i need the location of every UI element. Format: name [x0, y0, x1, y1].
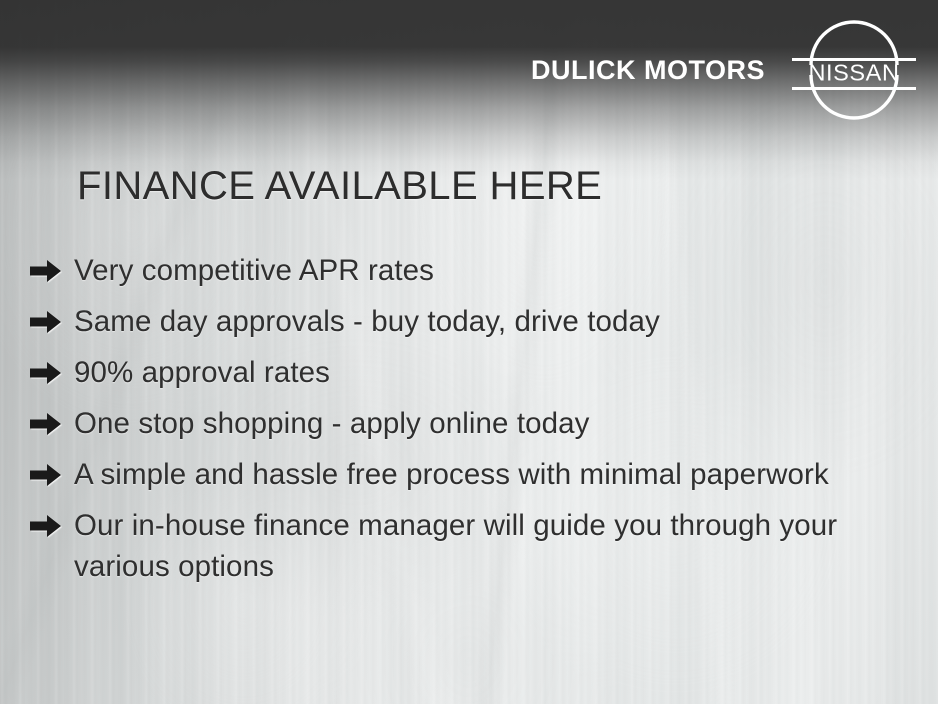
list-item-label: 90% approval rates	[74, 353, 330, 394]
page-title: FINANCE AVAILABLE HERE	[77, 163, 602, 209]
finance-slide: DULICK MOTORS NISSAN FINANCE AVAILABLE H…	[0, 0, 938, 704]
arrow-right-icon	[30, 514, 61, 538]
list-item: A simple and hassle free process with mi…	[30, 455, 912, 499]
dealer-brand-name: DULICK MOTORS	[531, 57, 765, 84]
list-item-label: Very competitive APR rates	[74, 251, 434, 292]
list-item-label: Our in-house finance manager will guide …	[74, 506, 912, 587]
list-item-label: Same day approvals - buy today, drive to…	[74, 302, 660, 343]
list-item: Very competitive APR rates	[30, 251, 912, 295]
list-item: 90% approval rates	[30, 353, 912, 397]
list-item: One stop shopping - apply online today	[30, 404, 912, 448]
arrow-right-icon	[30, 463, 61, 487]
list-item-label: A simple and hassle free process with mi…	[74, 455, 829, 496]
list-item: Same day approvals - buy today, drive to…	[30, 302, 912, 346]
list-item: Our in-house finance manager will guide …	[30, 506, 912, 587]
arrow-right-icon	[30, 310, 61, 334]
bullet-list: Very competitive APR rates Same day appr…	[30, 251, 912, 594]
list-item-label: One stop shopping - apply online today	[74, 404, 589, 445]
arrow-right-icon	[30, 361, 61, 385]
arrow-right-icon	[30, 412, 61, 436]
header: DULICK MOTORS NISSAN	[0, 0, 938, 140]
nissan-wordmark: NISSAN	[808, 60, 899, 86]
arrow-right-icon	[30, 259, 61, 283]
nissan-logo: NISSAN	[790, 18, 918, 122]
